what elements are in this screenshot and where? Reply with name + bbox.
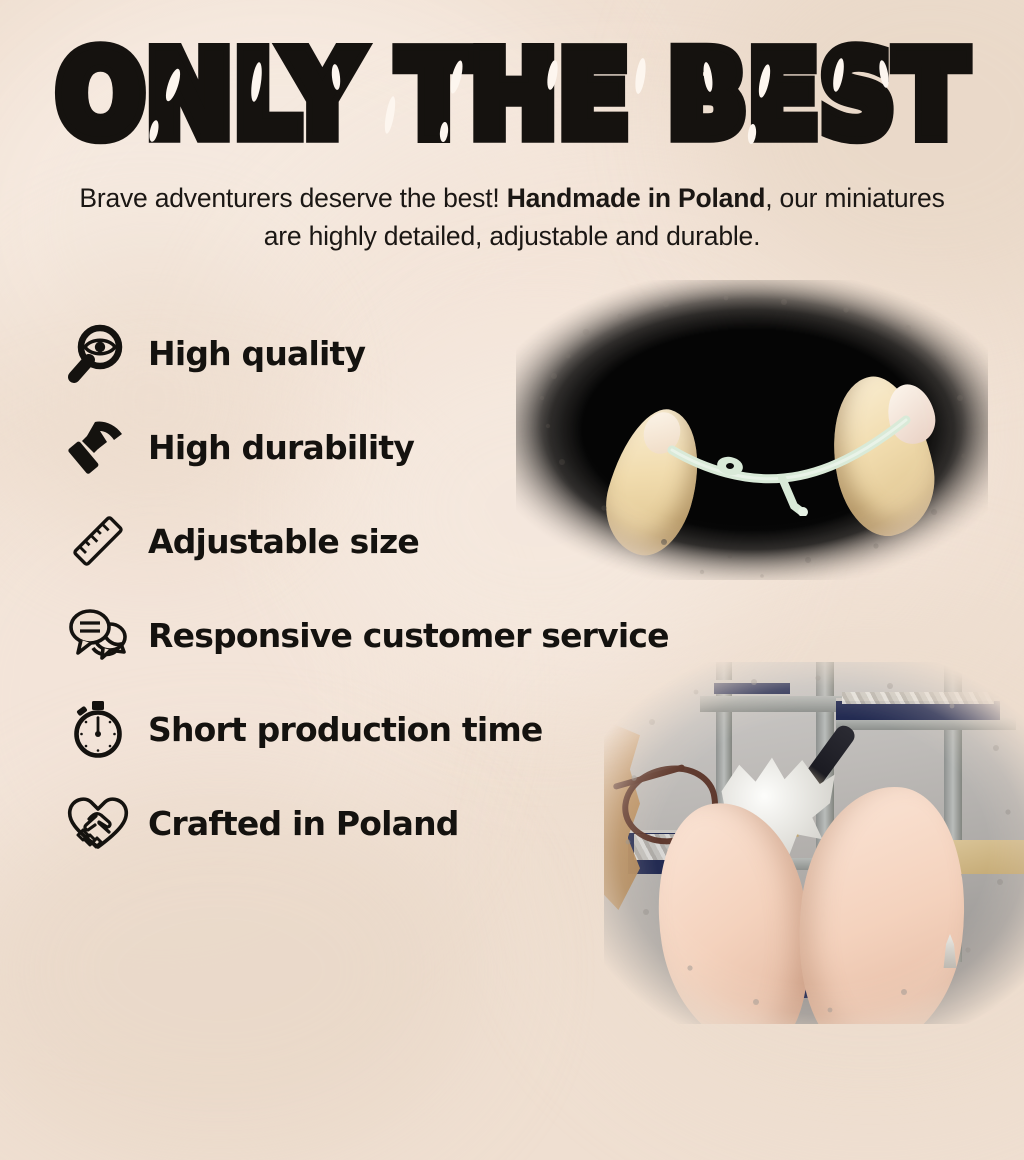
feature-label: Short production time xyxy=(148,710,543,749)
parts-tray-contents xyxy=(842,692,994,704)
feature-label: Responsive customer service xyxy=(148,616,669,655)
hammer-icon xyxy=(62,412,134,482)
feature-row: High durability xyxy=(62,400,782,494)
feature-list: High quality High durability xyxy=(62,306,782,870)
feature-row: Responsive customer service xyxy=(62,588,782,682)
title-container: ONLY THE BEST xyxy=(0,36,1024,142)
feature-row: Short production time xyxy=(62,682,782,776)
feature-label: Crafted in Poland xyxy=(148,804,459,843)
magnifier-eye-icon xyxy=(62,318,134,388)
subtitle-lead: Brave adventurers deserve the best! xyxy=(79,183,506,213)
feature-label: Adjustable size xyxy=(148,522,419,561)
feature-row: High quality xyxy=(62,306,782,400)
speech-bubbles-icon xyxy=(62,600,134,670)
page-title: ONLY THE BEST xyxy=(56,36,967,155)
subtitle-strong: Handmade in Poland xyxy=(507,183,766,213)
feature-row: Crafted in Poland xyxy=(62,776,782,870)
subtitle: Brave adventurers deserve the best! Hand… xyxy=(60,180,964,255)
feature-label: High durability xyxy=(148,428,414,467)
heart-handshake-icon xyxy=(62,788,134,858)
stopwatch-icon xyxy=(62,694,134,764)
feature-row: Adjustable size xyxy=(62,494,782,588)
ruler-icon xyxy=(62,506,134,576)
feature-label: High quality xyxy=(148,334,365,373)
